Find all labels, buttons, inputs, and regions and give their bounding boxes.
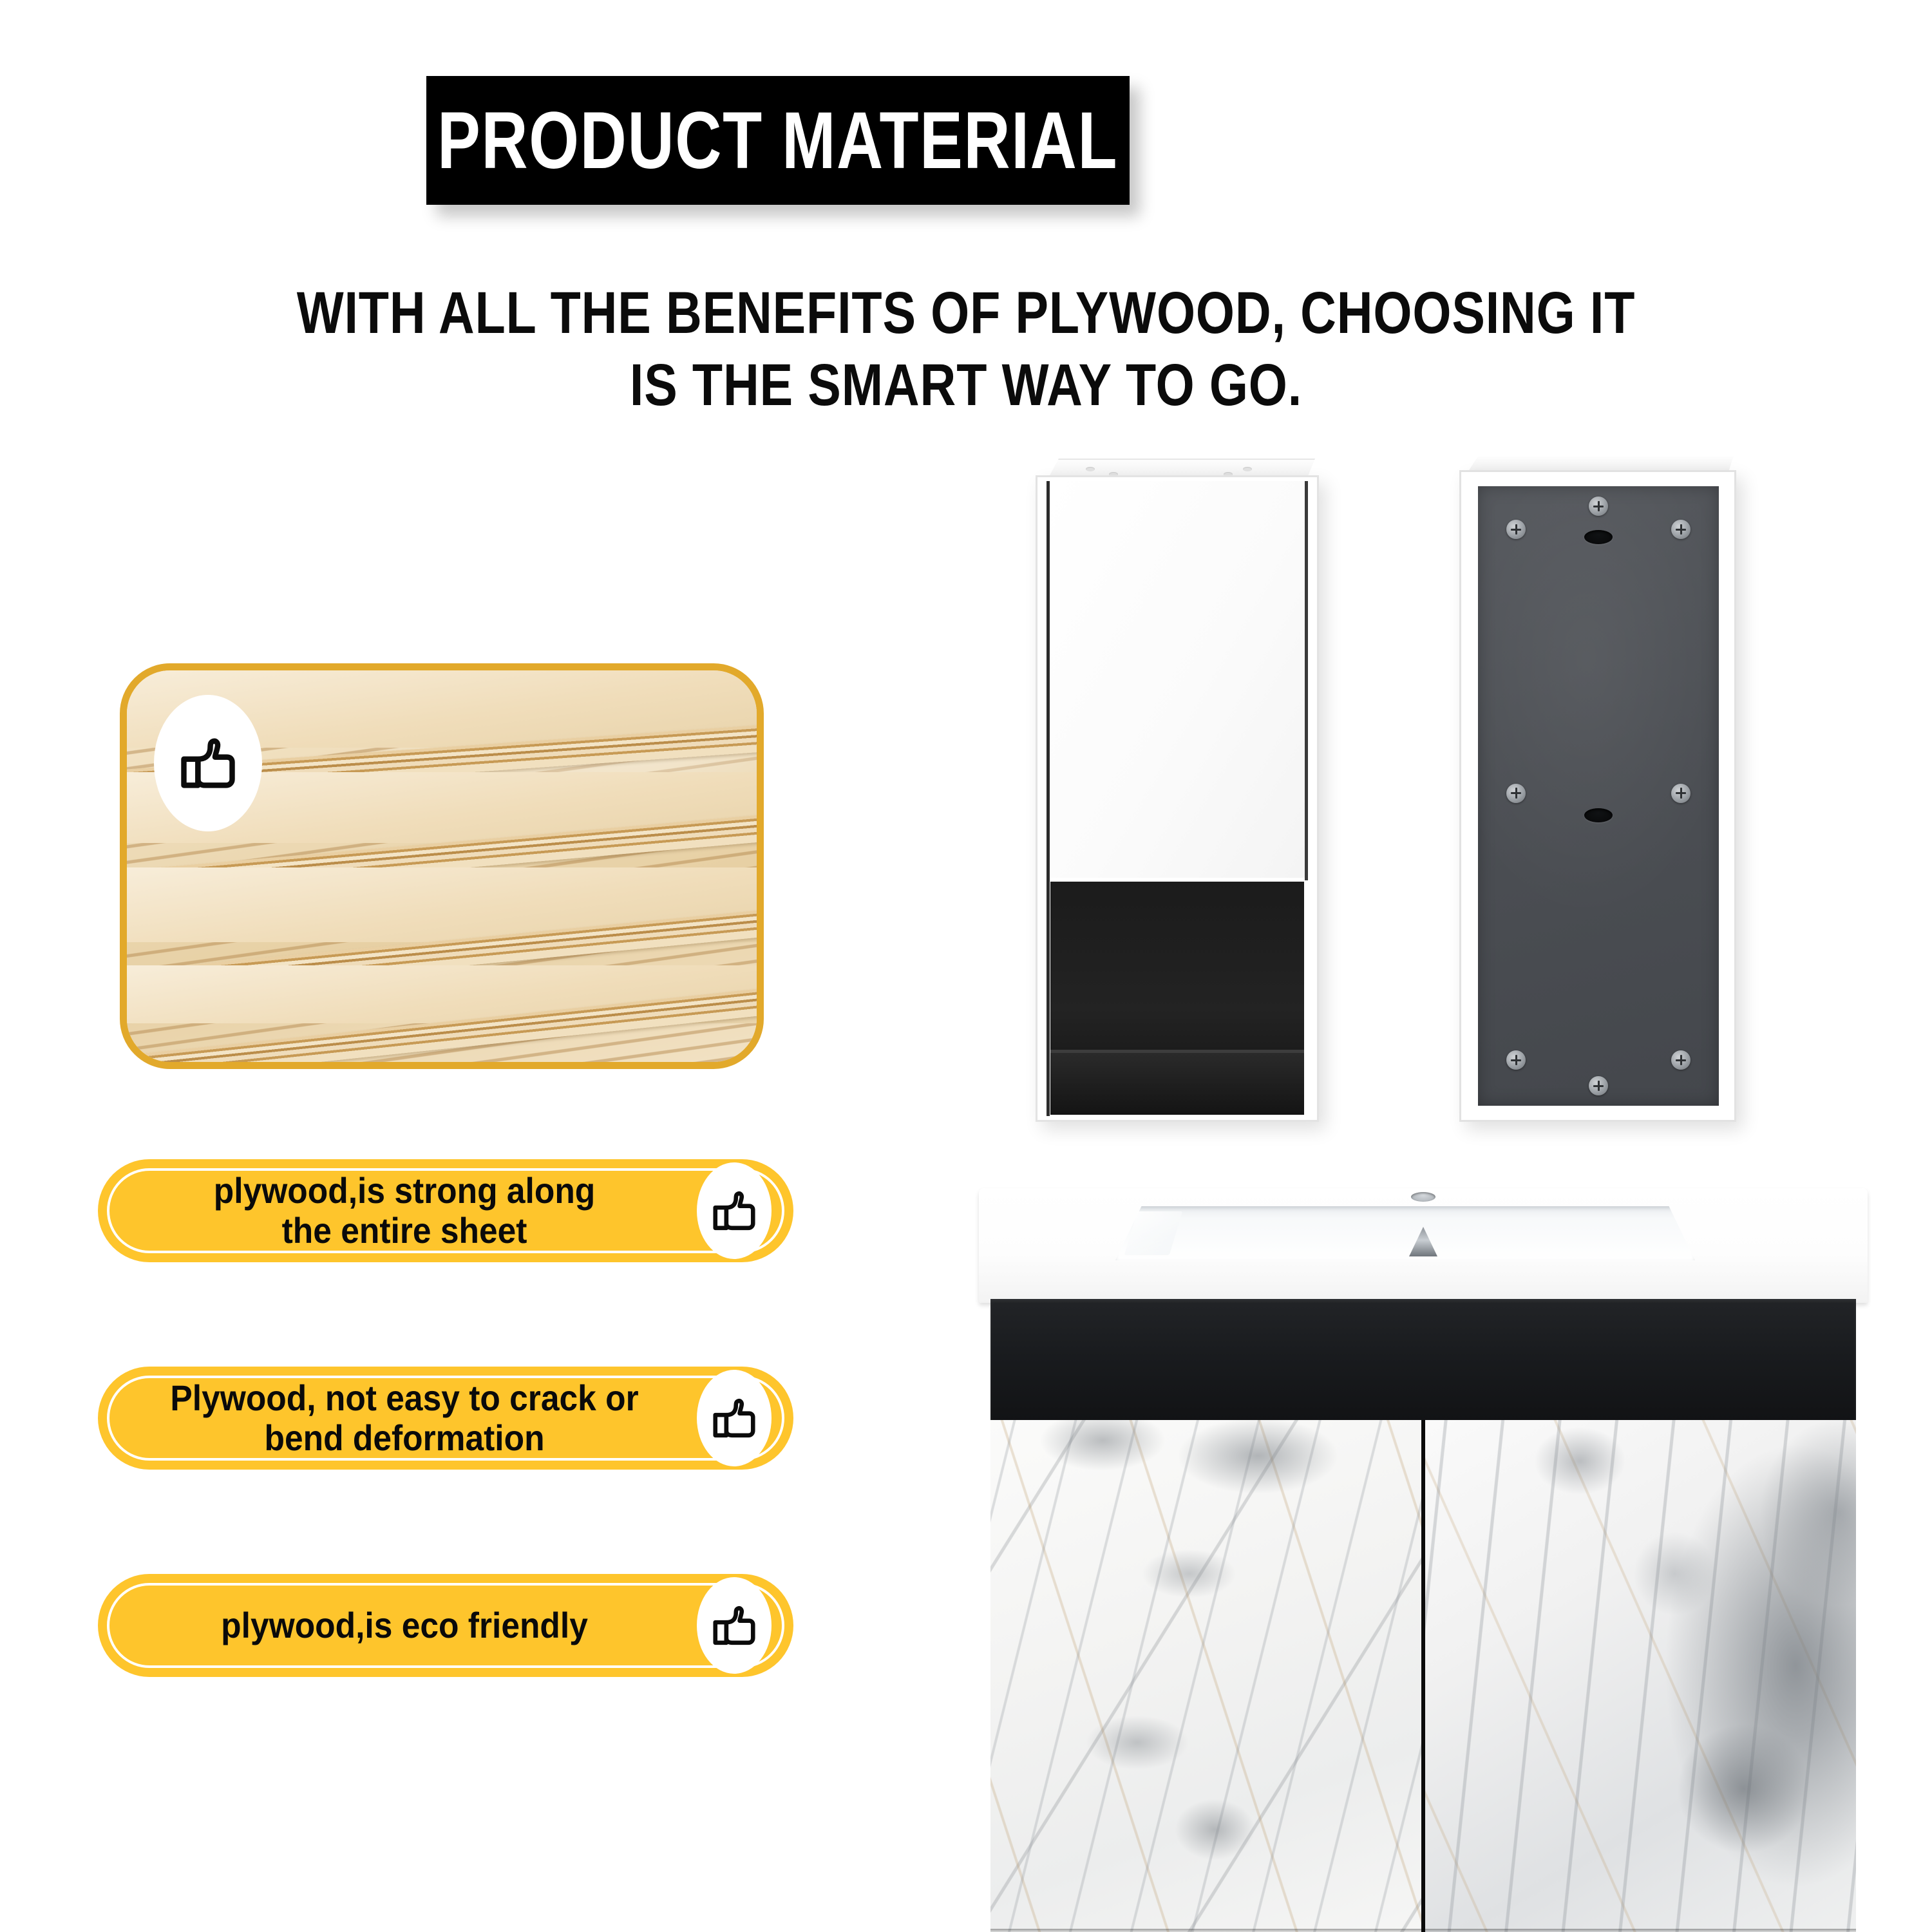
benefit-line-1: Plywood, not easy to crack or <box>170 1378 638 1418</box>
thumbs-up-icon <box>709 1393 759 1443</box>
screw-icon <box>1506 520 1526 539</box>
cabinet-left-reveal <box>1046 481 1050 1116</box>
thumbs-up-badge <box>697 1370 772 1466</box>
benefit-pill-eco[interactable]: plywood,is eco friendly <box>98 1574 793 1677</box>
cabinet-open-niche <box>1050 882 1304 1115</box>
benefit-pill-label: plywood,is eco friendly <box>122 1605 673 1645</box>
screw-icon <box>1506 784 1526 803</box>
screw-icon <box>1506 1050 1526 1070</box>
benefit-pill-strength[interactable]: plywood,is strong along the entire sheet <box>98 1159 793 1262</box>
screw-icon <box>1671 784 1690 803</box>
keyhole-mount-slot <box>1584 530 1613 544</box>
page-title: PRODUCT MATERIAL <box>438 100 1119 181</box>
thumbs-up-icon <box>709 1186 759 1236</box>
screw-hole-icon <box>1243 467 1252 471</box>
cabinet-back-frame <box>1459 470 1736 1122</box>
screw-icon <box>1589 497 1608 516</box>
faucet-hole <box>1411 1192 1435 1202</box>
thumbs-up-icon <box>176 731 240 795</box>
cabinet-door-panel <box>1050 481 1307 878</box>
vanity-black-apron <box>990 1299 1856 1420</box>
cabinet-right-reveal <box>1305 481 1308 880</box>
sink-basin <box>1115 1206 1695 1260</box>
benefit-pill-label: Plywood, not easy to crack or bend defor… <box>122 1378 673 1457</box>
ceramic-sink-countertop <box>979 1188 1868 1303</box>
thumbs-up-badge <box>697 1162 772 1259</box>
screw-icon <box>1671 1050 1690 1070</box>
thumbs-up-badge <box>154 695 262 831</box>
benefit-line-1: plywood,is eco friendly <box>221 1605 588 1645</box>
vanity-door-group <box>990 1420 1856 1932</box>
vanity-door-right[interactable] <box>1425 1420 1856 1932</box>
screw-icon <box>1589 1076 1608 1095</box>
niche-inner-bottom <box>1050 1053 1304 1115</box>
subtitle-block: WITH ALL THE BENEFITS OF PLYWOOD, CHOOSI… <box>0 283 1932 416</box>
cabinet-body <box>1036 475 1319 1122</box>
benefit-line-2: the entire sheet <box>282 1210 527 1251</box>
benefit-pill-label: plywood,is strong along the entire sheet <box>122 1171 673 1250</box>
benefit-pill-durability[interactable]: Plywood, not easy to crack or bend defor… <box>98 1367 793 1470</box>
subtitle-line-2: IS THE SMART WAY TO GO. <box>155 355 1777 416</box>
page-title-banner: PRODUCT MATERIAL <box>426 76 1130 205</box>
plywood-photo-card <box>120 663 764 1069</box>
grey-back-panel <box>1478 486 1719 1106</box>
keyhole-mount-slot <box>1584 808 1613 822</box>
screw-icon <box>1671 520 1690 539</box>
subtitle-line-1: WITH ALL THE BENEFITS OF PLYWOOD, CHOOSI… <box>155 283 1777 344</box>
thumbs-up-icon <box>709 1600 759 1651</box>
thumbs-up-badge <box>697 1577 772 1674</box>
benefit-line-2: bend deformation <box>265 1417 545 1458</box>
screw-hole-icon <box>1086 467 1095 471</box>
product-image-side-cabinet <box>1036 459 1319 1122</box>
benefit-line-1: plywood,is strong along <box>214 1170 595 1211</box>
vanity-door-left[interactable] <box>990 1420 1422 1932</box>
product-image-vanity <box>979 1188 1868 1932</box>
door-seam <box>1421 1420 1425 1932</box>
product-image-cabinet-back <box>1459 456 1736 1122</box>
